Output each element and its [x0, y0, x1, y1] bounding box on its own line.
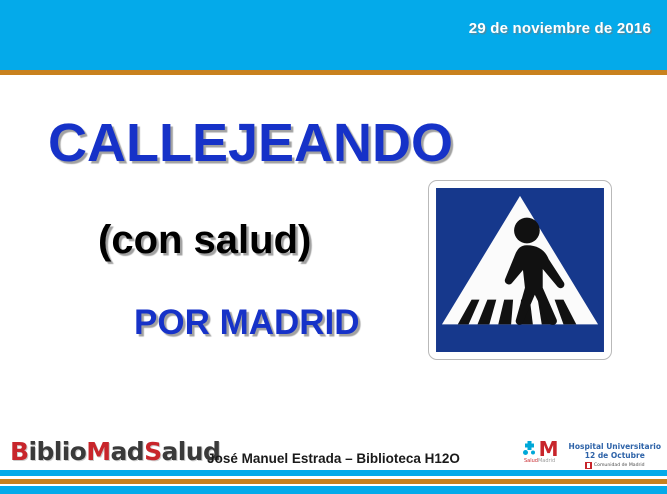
logo-saludmadrid-mark: M — [521, 440, 559, 457]
comunidad-madrid-flag-icon — [585, 462, 592, 469]
comunidad-madrid-mark: Comunidad de Madrid — [585, 462, 645, 469]
footer-stripe-cyan-bottom — [0, 486, 667, 494]
slide-date: 29 de noviembre de 2016 — [469, 20, 651, 37]
logo-saludmadrid-caption-salud: Salud — [524, 458, 538, 464]
logo-hospital-12-octubre: Hospital Universitario 12 de Octubre Com… — [569, 440, 661, 469]
health-cross-icon — [521, 440, 538, 457]
pedestrian-crossing-sign — [428, 180, 612, 360]
hospital-line-1: Hospital Universitario — [569, 442, 661, 451]
logo-saludmadrid-caption: SaludMadrid — [524, 458, 555, 464]
pedestrian-crossing-svg — [436, 188, 604, 352]
slide-title-main: CALLEJEANDO — [48, 112, 453, 174]
footer-stripe-cyan-top — [0, 470, 667, 476]
logo-saludmadrid-letter-m: M — [539, 441, 559, 457]
slide-title-sub: (con salud) — [98, 218, 311, 263]
logo-saludmadrid: M SaludMadrid — [518, 440, 562, 464]
footer-stripe-orange — [0, 479, 667, 484]
comunidad-madrid-label: Comunidad de Madrid — [594, 463, 645, 469]
header-banner-rule — [0, 70, 667, 75]
presentation-slide: 29 de noviembre de 2016 CALLEJEANDO (con… — [0, 0, 667, 494]
institutional-logo-group: M SaludMadrid Hospital Universitario 12 … — [518, 440, 661, 469]
hospital-line-2: 12 de Octubre — [585, 451, 645, 460]
slide-title-third: POR MADRID — [134, 303, 360, 343]
logo-saludmadrid-caption-madrid: Madrid — [538, 458, 555, 464]
